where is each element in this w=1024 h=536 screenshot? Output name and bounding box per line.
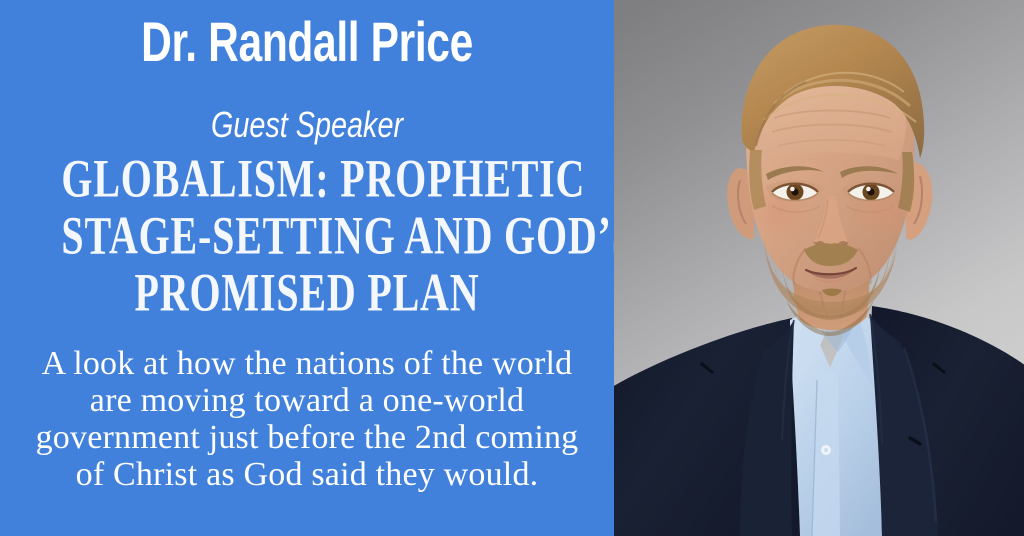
talk-description-line-2: are moving toward a one-world [16,382,598,419]
talk-title: GLOBALISM: PROPHETIC STAGE-SETTING AND G… [0,150,614,321]
talk-description: A look at how the nations of the world a… [16,345,598,493]
event-promo-poster: Dr. Randall Price Guest Speaker GLOBALIS… [0,0,1024,536]
speaker-photo [614,0,1024,536]
talk-title-line-2: STAGE-SETTING AND GOD’S [61,205,552,267]
talk-title-line-3: PROMISED PLAN [61,262,552,324]
talk-description-line-4: of Christ as God said they would. [16,456,598,493]
text-panel: Dr. Randall Price Guest Speaker GLOBALIS… [0,0,614,536]
speaker-name: Dr. Randall Price [74,14,541,70]
speaker-role-label: Guest Speaker [61,107,552,143]
talk-description-line-3: government just before the 2nd coming [16,419,598,456]
talk-title-line-1: GLOBALISM: PROPHETIC [61,148,552,210]
talk-description-line-1: A look at how the nations of the world [16,345,598,382]
speaker-portrait-illustration [614,0,1024,536]
